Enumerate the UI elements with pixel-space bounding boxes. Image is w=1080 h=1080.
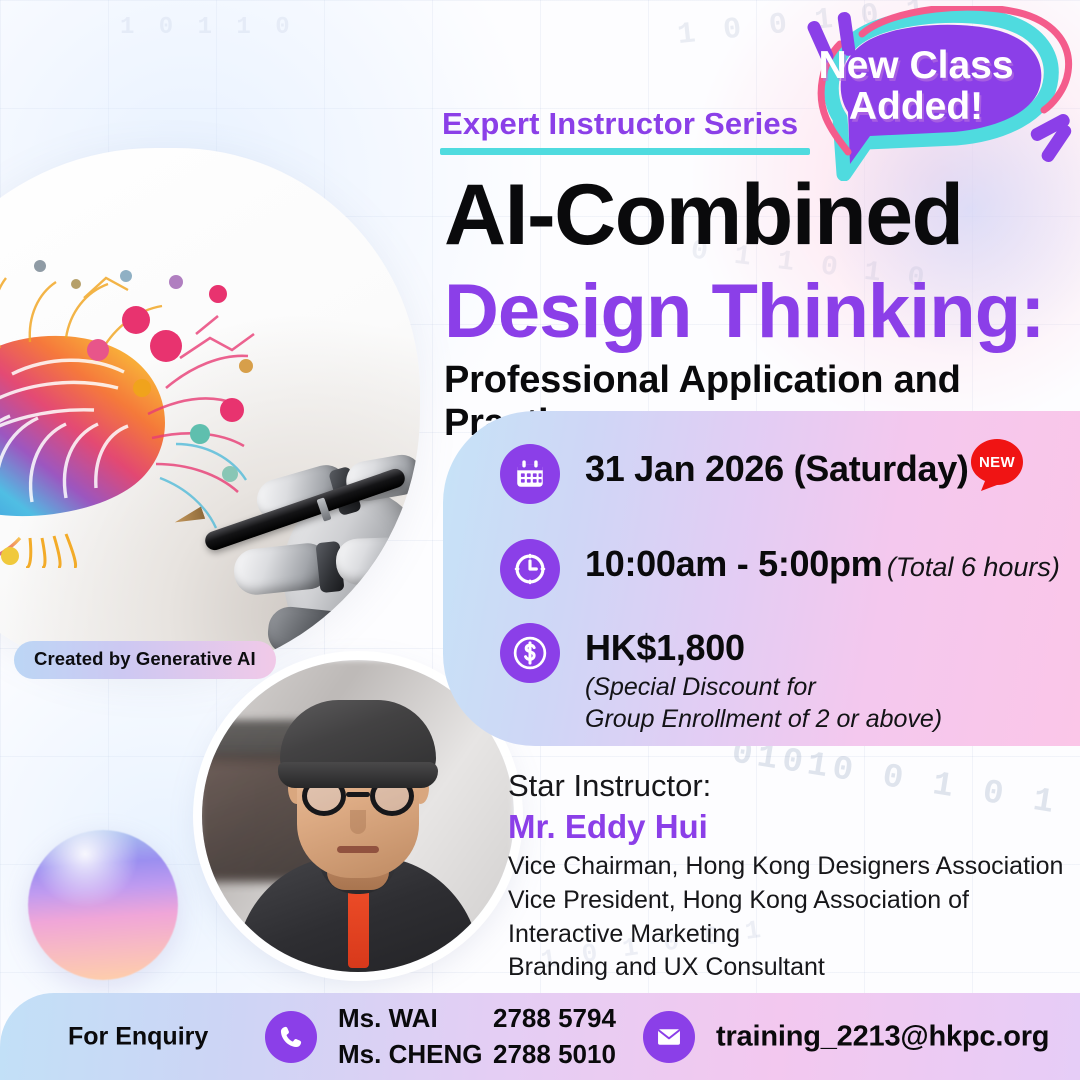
instructor-bio: Vice Chairman, Hong Kong Designers Assoc… [508, 850, 1063, 985]
eyebrow-underline [440, 148, 810, 155]
phone-icon[interactable] [265, 1011, 317, 1063]
new-pin-badge: NEW [969, 437, 1025, 493]
generative-ai-caption: Created by Generative AI [14, 641, 276, 679]
contact-email[interactable]: training_2213@hkpc.org [716, 1020, 1049, 1053]
iridescent-sphere-decor [28, 830, 178, 980]
course-date: 31 Jan 2026 (Saturday) [585, 448, 969, 489]
page-title-line-2: Design Thinking: [444, 274, 1044, 350]
page-title-line-1: AI-Combined [444, 172, 963, 258]
detail-row-date: 31 Jan 2026 (Saturday) [500, 444, 969, 504]
eyebrow-text: Expert Instructor Series [442, 106, 798, 142]
new-pin-label: NEW [969, 437, 1025, 493]
star-instructor-label: Star Instructor: [508, 768, 711, 804]
course-price: HK$1,800 [585, 627, 942, 669]
contact-row: Ms. CHENG 2788 5010 [338, 1037, 616, 1074]
course-duration: (Total 6 hours) [887, 552, 1060, 582]
clock-icon [500, 539, 560, 599]
detail-row-price: HK$1,800 (Special Discount for Group Enr… [500, 623, 942, 735]
detail-row-time: 10:00am - 5:00pm (Total 6 hours) [500, 539, 1060, 599]
enquiry-footer-bar: For Enquiry Ms. WAI 2788 5794 Ms. CHENG … [0, 993, 1080, 1080]
contact-number: 2788 5794 [493, 1000, 616, 1037]
dollar-coin-icon [500, 623, 560, 683]
brain-artwork-blob [0, 148, 420, 678]
contact-list: Ms. WAI 2788 5794 Ms. CHENG 2788 5010 [338, 1000, 616, 1074]
new-class-badge: New Class Added! [788, 6, 1080, 181]
course-time: 10:00am - 5:00pm [585, 543, 882, 584]
poster-canvas: 01010 0 1 0 1 1 0 0 1 0 1 0 1 1 0 1 0 1 … [0, 0, 1080, 1080]
enquiry-label: For Enquiry [68, 1022, 208, 1051]
badge-line-2: Added! [788, 87, 1044, 128]
contact-number: 2788 5010 [493, 1037, 616, 1074]
course-discount-note: (Special Discount for Group Enrollment o… [585, 672, 942, 735]
instructor-name: Mr. Eddy Hui [508, 808, 708, 846]
contact-row: Ms. WAI 2788 5794 [338, 1000, 616, 1037]
envelope-icon[interactable] [643, 1011, 695, 1063]
badge-text: New Class Added! [788, 46, 1044, 127]
robotic-hand-holding-pen [194, 414, 420, 678]
calendar-icon [500, 444, 560, 504]
badge-line-1: New Class [788, 46, 1044, 87]
contact-name: Ms. CHENG [338, 1037, 493, 1074]
binary-digits-decor: 1 0 1 1 0 [120, 14, 295, 41]
contact-name: Ms. WAI [338, 1000, 493, 1037]
